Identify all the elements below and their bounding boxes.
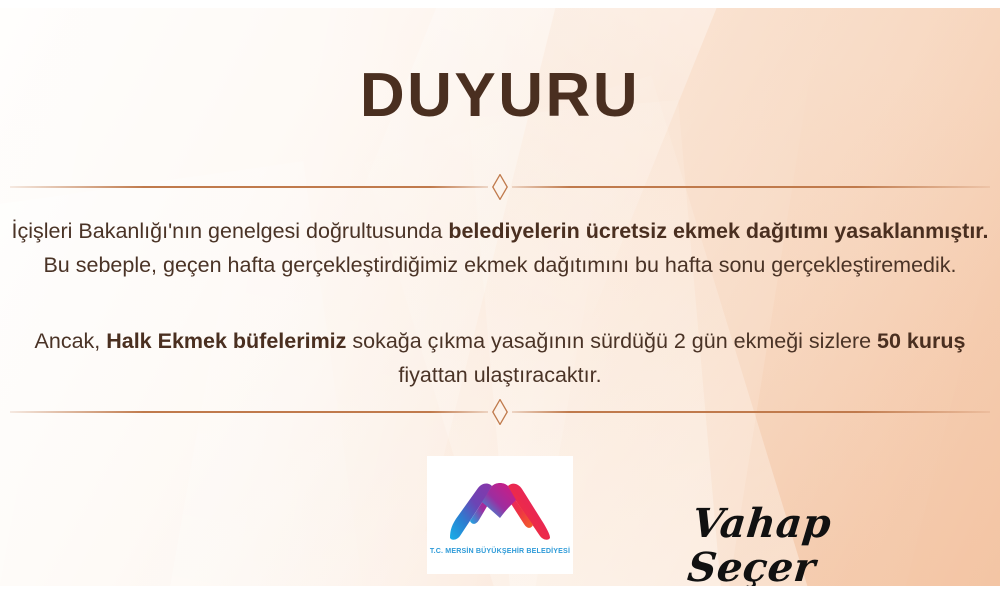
mersin-m-logo-icon [448, 480, 552, 542]
body-text: İçişleri Bakanlığı'nın genelgesi doğrult… [12, 219, 449, 243]
divider-bottom [10, 399, 990, 425]
divider-rule-right [512, 186, 990, 188]
divider-rule-right [512, 411, 990, 413]
divider-rule-left [10, 186, 488, 188]
mayor-signature-block: Vahap Seçer T.C. MERSİN BÜYÜKŞEHİR BELED… [690, 502, 940, 586]
paragraph-2: Ancak, Halk Ekmek büfelerimiz sokağa çık… [0, 324, 1000, 392]
diamond-ornament-icon [492, 399, 508, 425]
body-text: Ancak, [35, 329, 107, 353]
paragraph-1: İçişleri Bakanlığı'nın genelgesi doğrult… [0, 214, 1000, 282]
municipality-logo-card: T.C. MERSİN BÜYÜKŞEHİR BELEDİYESİ [427, 456, 573, 574]
announcement-poster: DUYURU İçişleri Bakanlığı'nın genelgesi … [0, 8, 1000, 586]
emphasis-text: 50 kuruş [877, 329, 965, 353]
body-text: fiyattan ulaştıracaktır. [398, 363, 601, 387]
divider-rule-left [10, 411, 488, 413]
body-text: Bu sebeple, geçen hafta gerçekleştirdiği… [43, 253, 956, 277]
page-title: DUYURU [0, 60, 1000, 131]
emphasis-text: Halk Ekmek büfelerimiz [106, 329, 346, 353]
logo-caption: T.C. MERSİN BÜYÜKŞEHİR BELEDİYESİ [430, 547, 570, 555]
body-text: sokağa çıkma yasağının sürdüğü 2 gün ekm… [346, 329, 877, 353]
diamond-ornament-icon [492, 174, 508, 200]
emphasis-text: belediyelerin ücretsiz ekmek dağıtımı ya… [448, 219, 988, 243]
divider-top [10, 174, 990, 200]
signature-name: Vahap Seçer [685, 502, 944, 586]
